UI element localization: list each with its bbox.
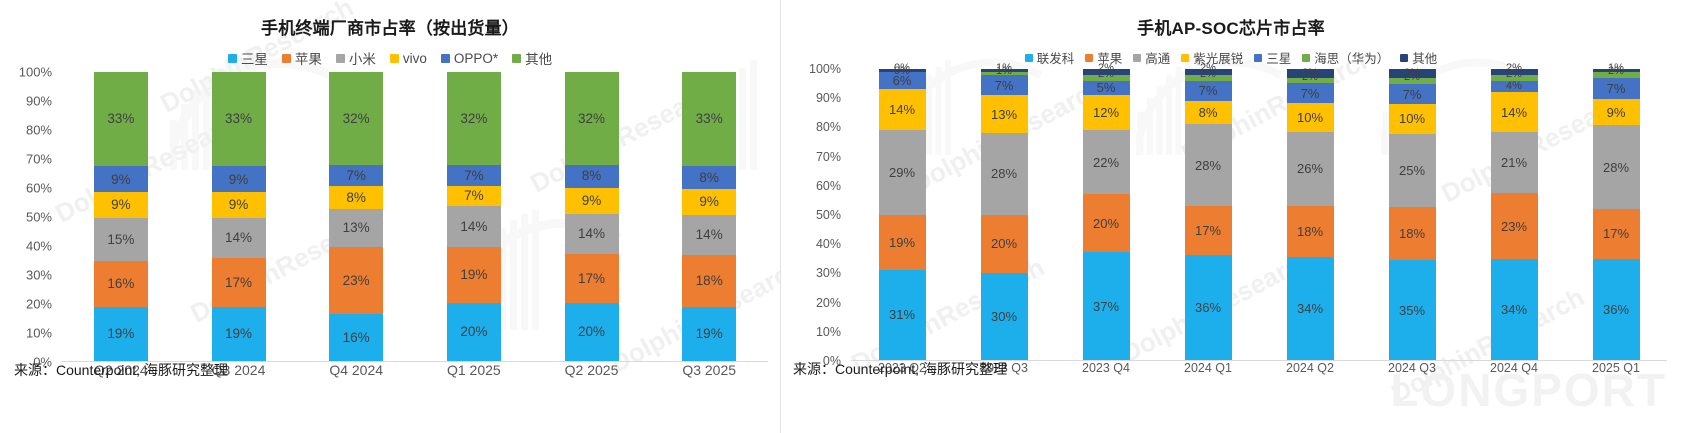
bar-segment-label: 18%	[1297, 225, 1323, 238]
bar-segment[interactable]: 29%	[879, 130, 926, 214]
stacked-bar[interactable]: 19%17%14%9%9%33%	[212, 72, 266, 361]
bar-segment[interactable]: 31%	[879, 270, 926, 360]
bar-segment-label: 8%	[346, 191, 366, 205]
bar-segment[interactable]: 19%	[94, 307, 148, 361]
bar-segment-label: 9%	[229, 173, 249, 187]
bar-segment-label: 30%	[991, 310, 1017, 323]
bar-segment-label: 32%	[578, 112, 605, 126]
legend-swatch-icon	[441, 54, 450, 63]
bar-segment[interactable]: 19%	[682, 307, 736, 361]
bar-segment[interactable]: 7%	[981, 75, 1028, 95]
legend-swatch-icon	[390, 54, 399, 63]
x-axis-tick: Q4 2024	[297, 362, 415, 378]
bar-segment[interactable]: 7%	[329, 165, 383, 185]
bar-column[interactable]: 36%17%28%8%7%2%2%	[1157, 69, 1259, 360]
bar-segment-label: 9%	[111, 173, 131, 187]
bar-segment-label: 20%	[578, 325, 605, 339]
legend-label: 苹果	[295, 48, 322, 68]
chart-title: 手机终端厂商市占率（按出货量）	[0, 0, 780, 39]
bar-column[interactable]: 19%17%14%9%9%33%	[180, 72, 298, 361]
bar-segment[interactable]: 8%	[1185, 101, 1232, 124]
bar-segment[interactable]: 28%	[1185, 124, 1232, 205]
bar-segment[interactable]: 8%	[565, 165, 619, 188]
bar-column[interactable]: 20%17%14%9%8%32%	[533, 72, 651, 361]
y-axis-tick: 40%	[816, 237, 841, 251]
stacked-bar[interactable]: 19%16%15%9%9%33%	[94, 72, 148, 361]
y-axis: 0%10%20%30%40%50%60%70%80%90%100%	[789, 69, 847, 361]
bar-segment-label: 7%	[1403, 88, 1422, 101]
bar-segment-label: 22%	[1093, 156, 1119, 169]
legend-label: 三星	[241, 48, 268, 68]
legend-item-4[interactable]: 三星	[1254, 48, 1291, 67]
bar-segment[interactable]: 7%	[1287, 83, 1334, 103]
legend-swatch-icon	[1025, 54, 1033, 62]
bar-segment[interactable]: 19%	[879, 215, 926, 270]
x-axis-tick: Q1 2025	[415, 362, 533, 378]
legend-label: 其他	[525, 48, 552, 68]
bar-segment[interactable]: 3%	[1389, 69, 1436, 78]
bar-segment-label: 14%	[578, 227, 605, 241]
bar-column[interactable]: 37%20%22%12%5%2%2%	[1055, 69, 1157, 360]
legend-item-2[interactable]: 小米	[336, 48, 376, 68]
bar-segment-label: 33%	[225, 112, 252, 126]
stacked-bar[interactable]: 34%18%26%10%7%2%3%	[1287, 69, 1334, 360]
bar-segment[interactable]: 23%	[1491, 193, 1538, 259]
bar-segment[interactable]: 7%	[1593, 78, 1640, 99]
y-axis-tick: 50%	[26, 210, 52, 225]
y-axis-tick: 30%	[816, 266, 841, 280]
bar-segment-label: 35%	[1399, 304, 1425, 317]
bar-segment-label: 7%	[346, 169, 366, 183]
bar-segment-label: 9%	[582, 194, 602, 208]
legend-label: 其他	[1412, 48, 1437, 67]
bar-segment[interactable]: 26%	[1287, 132, 1334, 206]
bar-segment-label: 19%	[225, 327, 252, 341]
bar-segment[interactable]: 12%	[1083, 95, 1130, 130]
bar-segment[interactable]: 36%	[1593, 259, 1640, 360]
bar-segment[interactable]: 36%	[1185, 255, 1232, 360]
bar-segment[interactable]: 14%	[1491, 92, 1538, 132]
dual-chart-page: DolphinResearch DolphinResearch DolphinR…	[0, 0, 1681, 433]
bar-segment[interactable]: 10%	[1389, 104, 1436, 133]
bar-segment[interactable]: 9%	[1593, 99, 1640, 126]
bar-segment[interactable]: 8%	[329, 186, 383, 209]
legend-label: 海思（华为）	[1314, 48, 1389, 67]
bar-segment[interactable]: 14%	[212, 218, 266, 258]
stacked-bar[interactable]: 31%19%29%14%6%0%0%	[879, 69, 926, 360]
bar-segment[interactable]: 14%	[879, 89, 926, 130]
bar-segment[interactable]: 17%	[1185, 206, 1232, 255]
bar-segment-label: 7%	[995, 79, 1014, 92]
bar-segment[interactable]: 17%	[212, 258, 266, 307]
bar-segment-label: 12%	[1093, 106, 1119, 119]
bar-segment-label: 3%	[1302, 68, 1318, 79]
bar-segment-label: 9%	[699, 195, 719, 209]
chart-legend: 三星苹果小米vivoOPPO*其他	[0, 48, 780, 68]
x-axis-tick: Q3 2025	[650, 362, 768, 378]
bar-segment-label: 17%	[578, 272, 605, 286]
bar-segment[interactable]: 19%	[447, 247, 501, 302]
bar-segment-label: 18%	[696, 274, 723, 288]
bar-column[interactable]: 19%16%15%9%9%33%	[62, 72, 180, 361]
legend-item-3[interactable]: vivo	[390, 51, 427, 66]
bar-segment-label: 7%	[464, 169, 484, 183]
bar-segment-label: 14%	[889, 103, 915, 116]
bar-segment[interactable]: 18%	[1389, 207, 1436, 260]
legend-label: 高通	[1145, 48, 1170, 67]
bar-segment[interactable]: 2%	[1083, 75, 1130, 81]
bar-segment[interactable]: 8%	[682, 166, 736, 189]
stacked-bar[interactable]: 16%23%13%8%7%32%	[329, 72, 383, 361]
x-axis-tick: 2024 Q4	[1463, 361, 1565, 375]
bar-segment-label: 28%	[1603, 161, 1629, 174]
chart-panel-ap-soc-share: DolphinResearch DolphinResearch DolphinR…	[781, 0, 1681, 433]
legend-item-4[interactable]: OPPO*	[441, 51, 498, 66]
bar-segment-label: 37%	[1093, 300, 1119, 313]
bar-column[interactable]: 20%19%14%7%7%32%	[415, 72, 533, 361]
source-note: 来源：Counterpoint, 海豚研究整理	[14, 360, 228, 380]
stacked-bar[interactable]: 34%23%21%14%4%2%2%	[1491, 69, 1538, 360]
bar-segment-label: 14%	[460, 220, 487, 234]
bar-segment-label: 29%	[889, 166, 915, 179]
bar-segment[interactable]: 28%	[1593, 125, 1640, 208]
bar-segment-label: 20%	[1093, 217, 1119, 230]
bar-segment-label: 19%	[107, 327, 134, 341]
legend-label: 小米	[349, 48, 376, 68]
y-axis-tick: 50%	[816, 208, 841, 222]
bar-segment-label: 23%	[1501, 220, 1527, 233]
bar-segment-label: 16%	[343, 331, 370, 345]
legend-label: OPPO*	[454, 51, 498, 66]
bar-segment[interactable]: 37%	[1083, 252, 1130, 360]
bars-container: 31%19%29%14%6%0%0%30%20%28%13%7%1%1%37%2…	[851, 69, 1667, 361]
bar-segment[interactable]: 34%	[1491, 259, 1538, 360]
bar-segment[interactable]: 5%	[1083, 81, 1130, 96]
bar-segment[interactable]: 22%	[1083, 130, 1130, 194]
bar-segment[interactable]: 33%	[212, 72, 266, 166]
stacked-bar[interactable]: 35%18%25%10%7%2%3%	[1389, 69, 1436, 360]
legend-label: 联发科	[1037, 48, 1075, 67]
bar-segment[interactable]: 16%	[94, 261, 148, 307]
bar-column[interactable]: 34%18%26%10%7%2%3%	[1259, 69, 1361, 360]
x-axis-tick: 2024 Q1	[1157, 361, 1259, 375]
bar-segment[interactable]: 14%	[682, 215, 736, 255]
y-axis-tick: 60%	[26, 181, 52, 196]
x-axis-tick: 2024 Q2	[1259, 361, 1361, 375]
y-axis: 0%10%20%30%40%50%60%70%80%90%100%	[0, 72, 58, 362]
bar-segment[interactable]: 20%	[1083, 194, 1130, 252]
bar-column[interactable]: 16%23%13%8%7%32%	[297, 72, 415, 361]
bar-segment-label: 33%	[107, 112, 134, 126]
bar-segment[interactable]: 9%	[212, 166, 266, 192]
bar-segment[interactable]: 10%	[1287, 103, 1334, 132]
bar-segment[interactable]: 33%	[94, 72, 148, 166]
bar-segment-label: 13%	[991, 108, 1017, 121]
bar-segment[interactable]: 32%	[447, 72, 501, 165]
bar-segment-label: 2%	[1200, 63, 1216, 74]
bar-column[interactable]: 31%19%29%14%6%0%0%	[851, 69, 953, 360]
bar-segment[interactable]: 32%	[329, 72, 383, 165]
bar-segment-label: 36%	[1603, 303, 1629, 316]
bar-segment-label: 28%	[1195, 159, 1221, 172]
legend-swatch-icon	[336, 54, 345, 63]
bar-segment-label: 36%	[1195, 301, 1221, 314]
y-axis-tick: 20%	[26, 297, 52, 312]
bar-segment-label: 26%	[1297, 162, 1323, 175]
bar-segment[interactable]: 20%	[447, 303, 501, 361]
y-axis-tick: 40%	[26, 239, 52, 254]
legend-swatch-icon	[1133, 54, 1141, 62]
bar-segment[interactable]: 34%	[1287, 257, 1334, 360]
y-axis-tick: 80%	[816, 120, 841, 134]
bar-segment-label: 21%	[1501, 156, 1527, 169]
stacked-bar[interactable]: 37%20%22%12%5%2%2%	[1083, 69, 1130, 360]
bar-segment[interactable]: 7%	[447, 186, 501, 206]
bar-segment-label: 32%	[460, 112, 487, 126]
bar-segment-label: 25%	[1399, 164, 1425, 177]
bar-segment-label: 34%	[1501, 303, 1527, 316]
bar-segment[interactable]: 2%	[1185, 69, 1232, 75]
y-axis-tick: 90%	[816, 91, 841, 105]
bar-segment-label: 14%	[696, 228, 723, 242]
x-axis-tick: 2024 Q3	[1361, 361, 1463, 375]
bar-segment[interactable]: 7%	[1389, 84, 1436, 105]
plot-area: 0%10%20%30%40%50%60%70%80%90%100% 19%16%…	[0, 72, 780, 362]
bar-segment-label: 28%	[991, 167, 1017, 180]
bar-segment-label: 20%	[460, 325, 487, 339]
bar-segment-label: 15%	[107, 233, 134, 247]
bar-segment[interactable]: 14%	[447, 206, 501, 247]
y-axis-tick: 70%	[816, 150, 841, 164]
bar-segment[interactable]: 23%	[329, 247, 383, 314]
bar-segment[interactable]: 18%	[1287, 206, 1334, 257]
bar-segment-label: 17%	[1603, 227, 1629, 240]
bar-segment-label: 7%	[1607, 82, 1626, 95]
legend-swatch-icon	[1254, 54, 1262, 62]
stacked-bar[interactable]: 36%17%28%9%7%2%1%	[1593, 69, 1640, 360]
bar-segment-label: 10%	[1399, 112, 1425, 125]
legend-item-1[interactable]: 苹果	[282, 48, 322, 68]
bar-segment[interactable]: 2%	[1083, 69, 1130, 75]
chart-title: 手机AP-SOC芯片市占率	[781, 0, 1681, 39]
bar-segment-label: 18%	[1399, 227, 1425, 240]
bar-segment[interactable]: 33%	[682, 72, 736, 166]
bar-segment-label: 1%	[996, 63, 1012, 74]
bar-segment-label: 9%	[229, 198, 249, 212]
stacked-bar[interactable]: 30%20%28%13%7%1%1%	[981, 69, 1028, 360]
bar-segment-label: 7%	[464, 189, 484, 203]
y-axis-tick: 10%	[816, 325, 841, 339]
legend-item-6[interactable]: 其他	[1400, 48, 1437, 67]
chart-legend: 联发科苹果高通紫光展锐三星海思（华为）其他	[781, 48, 1681, 67]
chart-panel-handset-oem-share: DolphinResearch DolphinResearch DolphinR…	[0, 0, 781, 433]
bar-segment[interactable]: 13%	[329, 209, 383, 247]
bar-segment[interactable]: 3%	[1287, 69, 1334, 78]
bar-segment[interactable]: 32%	[565, 72, 619, 164]
bar-segment[interactable]: 20%	[565, 303, 619, 361]
legend-swatch-icon	[1400, 54, 1408, 62]
x-axis-tick: Q2 2025	[533, 362, 651, 378]
stacked-bar[interactable]: 20%17%14%9%8%32%	[565, 72, 619, 361]
legend-label: 三星	[1266, 48, 1291, 67]
bar-segment[interactable]: 30%	[981, 273, 1028, 360]
bar-segment[interactable]: 1%	[981, 69, 1028, 72]
legend-swatch-icon	[282, 54, 291, 63]
bar-segment-label: 5%	[1097, 81, 1116, 94]
bar-segment-label: 8%	[582, 169, 602, 183]
bar-segment-label: 8%	[1199, 106, 1218, 119]
stacked-bar[interactable]: 36%17%28%8%7%2%2%	[1185, 69, 1232, 360]
legend-swatch-icon	[1181, 54, 1189, 62]
bar-segment-label: 0%	[894, 63, 910, 74]
bar-segment[interactable]: 18%	[682, 255, 736, 307]
bar-segment[interactable]: 21%	[1491, 132, 1538, 193]
bar-segment-label: 23%	[343, 274, 370, 288]
bar-segment[interactable]: 13%	[981, 95, 1028, 133]
bar-segment-label: 19%	[889, 236, 915, 249]
y-axis-tick: 60%	[816, 179, 841, 193]
stacked-bar[interactable]: 20%19%14%7%7%32%	[447, 72, 501, 361]
legend-swatch-icon	[1085, 54, 1093, 62]
bar-segment[interactable]: 17%	[565, 254, 619, 303]
legend-item-0[interactable]: 三星	[228, 48, 268, 68]
bar-column[interactable]: 19%18%14%9%8%33%	[650, 72, 768, 361]
bar-segment[interactable]: 17%	[1593, 209, 1640, 259]
bar-segment-label: 1%	[1608, 63, 1624, 74]
y-axis-tick: 70%	[26, 152, 52, 167]
y-axis-tick: 100%	[19, 65, 52, 80]
legend-item-0[interactable]: 联发科	[1025, 48, 1075, 67]
plot-area: 0%10%20%30%40%50%60%70%80%90%100% 31%19%…	[781, 69, 1681, 361]
x-axis-tick: 2025 Q1	[1565, 361, 1667, 375]
legend-swatch-icon	[1302, 54, 1310, 62]
bar-segment-label: 9%	[1607, 106, 1626, 119]
bar-segment-label: 16%	[107, 277, 134, 291]
bar-column[interactable]: 30%20%28%13%7%1%1%	[953, 69, 1055, 360]
bar-segment[interactable]: 7%	[1185, 81, 1232, 101]
bar-segment-label: 2%	[1098, 63, 1114, 74]
bar-segment-label: 31%	[889, 308, 915, 321]
bar-segment-label: 4%	[1506, 81, 1522, 92]
bar-segment-label: 17%	[225, 276, 252, 290]
x-axis-tick: 2023 Q4	[1055, 361, 1157, 375]
bar-segment-label: 32%	[343, 112, 370, 126]
bar-segment-label: 14%	[1501, 106, 1527, 119]
bar-segment-label: 10%	[1297, 111, 1323, 124]
bar-segment-label: 33%	[696, 112, 723, 126]
bar-segment[interactable]: 0%	[879, 69, 926, 72]
bar-segment[interactable]: 9%	[212, 192, 266, 218]
bar-segment[interactable]: 20%	[981, 215, 1028, 273]
y-axis-tick: 90%	[26, 94, 52, 109]
y-axis-tick: 10%	[26, 326, 52, 341]
bar-segment[interactable]: 9%	[565, 188, 619, 214]
legend-item-5[interactable]: 其他	[512, 48, 552, 68]
bar-segment[interactable]: 14%	[565, 214, 619, 254]
bar-segment[interactable]: 1%	[1593, 69, 1640, 72]
bar-segment[interactable]: 19%	[212, 307, 266, 361]
bar-segment-label: 7%	[1301, 87, 1320, 100]
y-axis-tick: 30%	[26, 268, 52, 283]
bar-column[interactable]: 36%17%28%9%7%2%1%	[1565, 69, 1667, 360]
bar-column[interactable]: 35%18%25%10%7%2%3%	[1361, 69, 1463, 360]
bar-segment-label: 20%	[991, 237, 1017, 250]
stacked-bar[interactable]: 19%18%14%9%8%33%	[682, 72, 736, 361]
bar-segment[interactable]: 15%	[94, 218, 148, 261]
y-axis-tick: 80%	[26, 123, 52, 138]
bars-container: 19%16%15%9%9%33%19%17%14%9%9%33%16%23%13…	[62, 72, 768, 362]
y-axis-tick: 100%	[809, 62, 841, 76]
bar-segment[interactable]: 35%	[1389, 260, 1436, 360]
bar-segment[interactable]: 28%	[981, 133, 1028, 214]
legend-label: vivo	[403, 51, 427, 66]
bar-segment-label: 19%	[696, 327, 723, 341]
bar-segment[interactable]: 2%	[1491, 75, 1538, 81]
legend-swatch-icon	[512, 54, 521, 63]
legend-swatch-icon	[228, 54, 237, 63]
bar-segment[interactable]: 2%	[1185, 75, 1232, 81]
bar-segment-label: 9%	[111, 198, 131, 212]
bar-segment-label: 14%	[225, 231, 252, 245]
bar-segment[interactable]: 9%	[94, 192, 148, 218]
bar-column[interactable]: 34%23%21%14%4%2%2%	[1463, 69, 1565, 360]
legend-item-5[interactable]: 海思（华为）	[1302, 48, 1389, 67]
bar-segment-label: 17%	[1195, 224, 1221, 237]
bar-segment-label: 13%	[343, 221, 370, 235]
legend-item-2[interactable]: 高通	[1133, 48, 1170, 67]
y-axis-tick: 20%	[816, 296, 841, 310]
bar-segment-label: 34%	[1297, 302, 1323, 315]
bar-segment[interactable]: 9%	[94, 166, 148, 192]
source-note: 来源：Counterpoint, 海豚研究整理	[793, 359, 1007, 379]
bar-segment[interactable]: 7%	[447, 165, 501, 185]
bar-segment-label: 2%	[1506, 63, 1522, 74]
bar-segment[interactable]: 16%	[329, 314, 383, 361]
bar-segment[interactable]: 4%	[1491, 81, 1538, 93]
bar-segment-label: 19%	[460, 268, 487, 282]
bar-segment[interactable]: 2%	[1491, 69, 1538, 75]
bar-segment[interactable]: 25%	[1389, 134, 1436, 207]
bar-segment[interactable]: 9%	[682, 189, 736, 215]
bar-segment-label: 3%	[1404, 68, 1420, 79]
bar-segment-label: 7%	[1199, 84, 1218, 97]
bar-segment-label: 8%	[699, 171, 719, 185]
